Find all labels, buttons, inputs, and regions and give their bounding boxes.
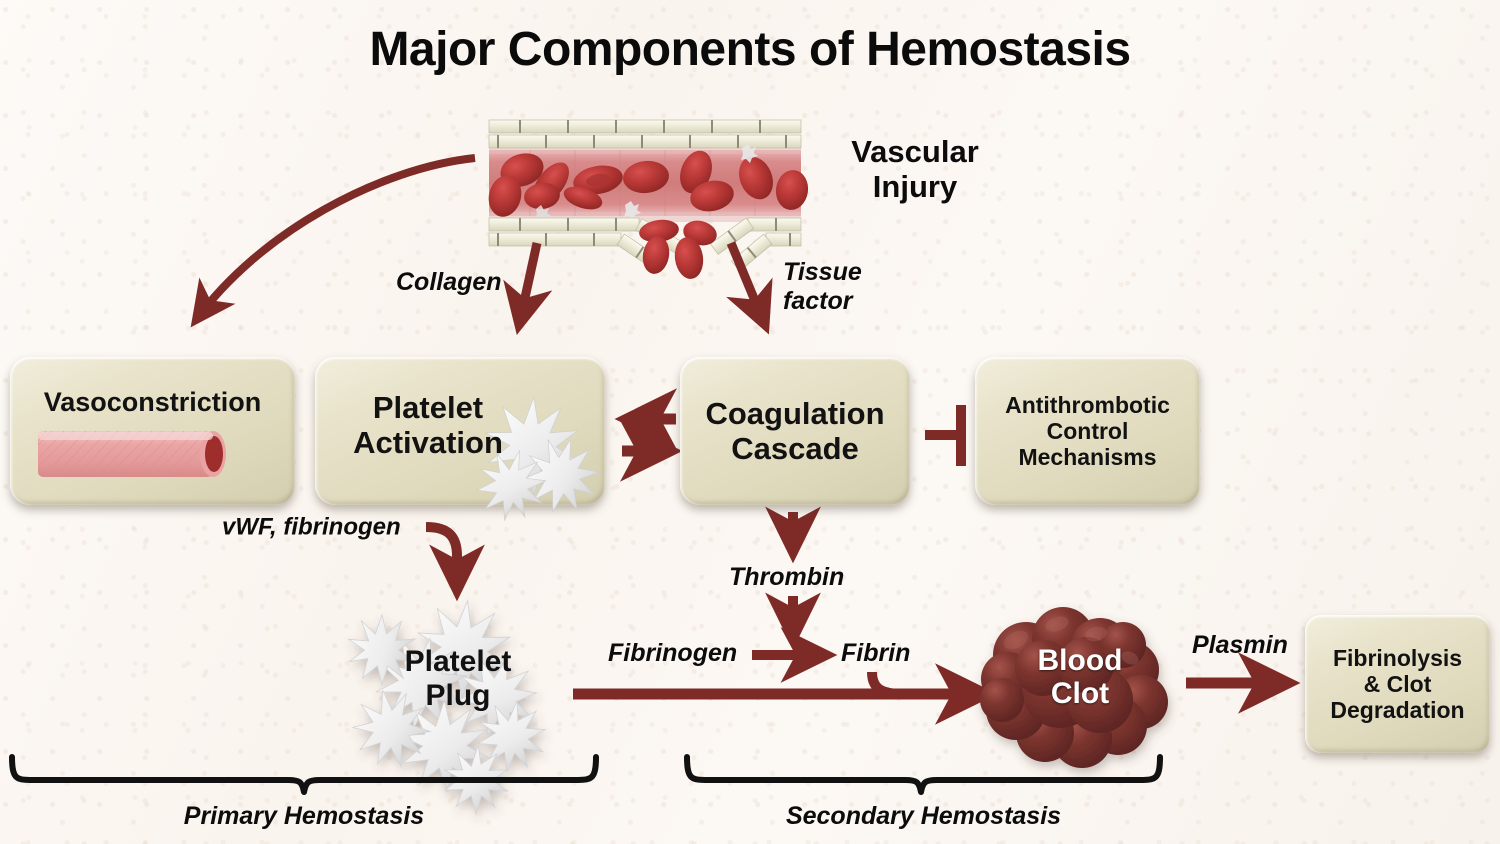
node-fibrinolysis[interactable]: Fibrinolysis & Clot Degradation bbox=[1305, 615, 1490, 753]
edge-label-fibrin: Fibrin bbox=[841, 639, 910, 668]
edge-label-vwf-fibrinogen: vWF, fibrinogen bbox=[222, 513, 401, 540]
node-vasoconstriction[interactable]: Vasoconstriction bbox=[10, 357, 295, 505]
node-blood-clot-label: Blood Clot bbox=[1010, 644, 1150, 710]
edge-label-collagen: Collagen bbox=[396, 268, 502, 297]
arrow-vwf-fibrinogen bbox=[426, 527, 457, 590]
node-platelet-activation[interactable]: Platelet Activation bbox=[315, 357, 605, 505]
edge-label-fibrinogen: Fibrinogen bbox=[608, 639, 737, 668]
brace-label-secondary-hemostasis: Secondary Hemostasis bbox=[687, 802, 1160, 831]
node-coagulation-cascade-label: Coagulation Cascade bbox=[705, 396, 884, 466]
node-antithrombotic-control-label: Antithrombotic Control Mechanisms bbox=[1005, 392, 1170, 470]
diagram-canvas: Major Components of Hemostasis bbox=[0, 0, 1500, 844]
node-coagulation-cascade[interactable]: Coagulation Cascade bbox=[680, 357, 910, 505]
arrow-antithrombotic-inhibits-coagulation bbox=[925, 405, 963, 466]
endothelium-top bbox=[489, 120, 801, 148]
node-platelet-activation-label: Platelet Activation bbox=[333, 390, 523, 460]
edge-label-tissue-factor: Tissue factor bbox=[783, 258, 862, 315]
arrow-collagen bbox=[519, 243, 537, 325]
edge-label-plasmin: Plasmin bbox=[1192, 631, 1288, 660]
node-fibrinolysis-label: Fibrinolysis & Clot Degradation bbox=[1330, 645, 1464, 723]
node-vascular-injury-label: Vascular Injury bbox=[820, 134, 1010, 205]
edge-label-thrombin: Thrombin bbox=[729, 563, 844, 592]
node-platelet-plug-label: Platelet Plug bbox=[388, 645, 528, 712]
brace-label-primary-hemostasis: Primary Hemostasis bbox=[0, 802, 608, 831]
node-antithrombotic-control[interactable]: Antithrombotic Control Mechanisms bbox=[975, 357, 1200, 505]
constricted-vessel-icon bbox=[10, 357, 295, 505]
node-vasoconstriction-label: Vasoconstriction bbox=[10, 387, 295, 418]
